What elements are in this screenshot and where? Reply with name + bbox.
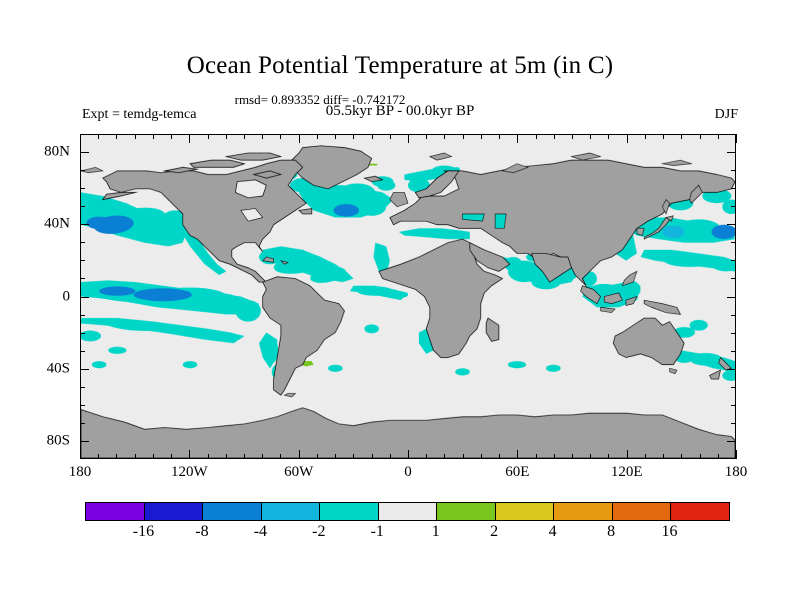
x-axis-label: 120W xyxy=(171,464,208,481)
x-tick-top xyxy=(444,134,445,139)
colorbar-swatch xyxy=(379,503,438,520)
x-tick xyxy=(98,454,99,459)
y-axis-label: 0 xyxy=(63,288,71,305)
x-tick-top xyxy=(499,134,500,139)
x-tick-top xyxy=(718,134,719,139)
x-tick xyxy=(627,450,628,459)
y-tick-right xyxy=(731,278,736,279)
x-tick-top xyxy=(80,134,81,143)
y-tick xyxy=(80,315,85,316)
y-tick xyxy=(80,242,85,243)
y-tick-right xyxy=(731,170,736,171)
colorbar-swatch xyxy=(671,503,729,520)
y-tick-right xyxy=(727,152,736,153)
colorbar-tick-label: 1 xyxy=(432,523,440,541)
colorbar-tick-label: 16 xyxy=(662,523,678,541)
x-axis-label: 180 xyxy=(725,464,748,481)
x-tick xyxy=(608,454,609,459)
y-tick xyxy=(80,188,85,189)
y-tick-right xyxy=(731,387,736,388)
x-tick xyxy=(116,454,117,459)
y-axis-label: 80S xyxy=(47,432,70,449)
y-tick xyxy=(80,224,89,225)
x-tick-top xyxy=(645,134,646,139)
x-tick-top xyxy=(116,134,117,139)
x-tick xyxy=(317,454,318,459)
x-tick xyxy=(280,454,281,459)
x-tick xyxy=(390,454,391,459)
y-tick xyxy=(80,333,85,334)
x-tick xyxy=(517,450,518,459)
x-tick-top xyxy=(736,134,737,143)
x-tick-top xyxy=(208,134,209,139)
y-tick-right xyxy=(731,242,736,243)
x-tick-top xyxy=(627,134,628,143)
x-tick-top xyxy=(153,134,154,139)
y-tick-right xyxy=(727,441,736,442)
x-tick-top xyxy=(244,134,245,139)
colorbar-tick-label: -4 xyxy=(254,523,267,541)
colorbar-tick-label: 4 xyxy=(549,523,557,541)
x-tick xyxy=(226,454,227,459)
y-axis-label: 40S xyxy=(47,360,70,377)
x-tick-top xyxy=(262,134,263,139)
colorbar xyxy=(85,502,730,521)
x-tick xyxy=(244,454,245,459)
experiment-label: Expt = temdg-temca xyxy=(82,107,196,123)
x-tick-top xyxy=(189,134,190,143)
x-tick-top xyxy=(463,134,464,139)
x-tick xyxy=(262,454,263,459)
x-tick-top xyxy=(171,134,172,139)
page-title: Ocean Potential Temperature at 5m (in C) xyxy=(0,52,800,80)
x-tick xyxy=(189,450,190,459)
x-tick xyxy=(700,454,701,459)
x-tick-top xyxy=(98,134,99,139)
x-tick-top xyxy=(353,134,354,139)
y-tick-right xyxy=(731,405,736,406)
y-tick-right xyxy=(731,423,736,424)
x-axis-label: 180 xyxy=(69,464,92,481)
x-tick xyxy=(353,454,354,459)
x-tick-top xyxy=(481,134,482,139)
x-tick-top xyxy=(408,134,409,143)
colorbar-tick-label: -8 xyxy=(195,523,208,541)
x-tick xyxy=(481,454,482,459)
x-tick xyxy=(590,454,591,459)
y-tick-right xyxy=(731,333,736,334)
y-tick xyxy=(80,297,89,298)
colorbar-tick-label: 2 xyxy=(490,523,498,541)
x-tick-top xyxy=(299,134,300,143)
y-tick-right xyxy=(727,369,736,370)
colorbar-swatch xyxy=(86,503,145,520)
colorbar-tick-label: -2 xyxy=(312,523,325,541)
x-tick-top xyxy=(226,134,227,139)
y-tick-right xyxy=(727,224,736,225)
x-tick-top xyxy=(372,134,373,139)
map-raster xyxy=(81,135,735,458)
colorbar-swatch xyxy=(496,503,555,520)
x-tick xyxy=(572,454,573,459)
x-tick-top xyxy=(572,134,573,139)
x-tick-top xyxy=(426,134,427,139)
y-tick-right xyxy=(731,206,736,207)
x-tick xyxy=(408,450,409,459)
colorbar-swatch xyxy=(203,503,262,520)
x-tick xyxy=(444,454,445,459)
x-tick xyxy=(718,454,719,459)
colorbar-tick-label: -16 xyxy=(133,523,154,541)
x-tick-top xyxy=(135,134,136,139)
x-tick-top xyxy=(335,134,336,139)
x-tick xyxy=(663,454,664,459)
x-axis-label: 120E xyxy=(611,464,643,481)
x-tick-top xyxy=(663,134,664,139)
x-tick-top xyxy=(517,134,518,143)
x-tick xyxy=(463,454,464,459)
x-tick-top xyxy=(700,134,701,139)
colorbar-swatch xyxy=(554,503,613,520)
colorbar-swatch xyxy=(145,503,204,520)
y-tick xyxy=(80,441,89,442)
y-tick xyxy=(80,260,85,261)
x-axis-label: 60W xyxy=(284,464,313,481)
colorbar-swatch xyxy=(613,503,672,520)
x-tick xyxy=(80,450,81,459)
climate-map-figure: Ocean Potential Temperature at 5m (in C)… xyxy=(0,0,800,600)
y-axis-label: 40N xyxy=(44,216,70,233)
x-tick-top xyxy=(280,134,281,139)
x-tick xyxy=(335,454,336,459)
x-tick xyxy=(153,454,154,459)
x-tick-top xyxy=(390,134,391,139)
y-tick-right xyxy=(731,188,736,189)
y-tick-right xyxy=(731,315,736,316)
y-tick xyxy=(80,369,89,370)
x-tick xyxy=(208,454,209,459)
x-tick-top xyxy=(681,134,682,139)
x-tick-top xyxy=(536,134,537,139)
y-tick-right xyxy=(731,351,736,352)
y-tick xyxy=(80,152,89,153)
x-tick xyxy=(299,450,300,459)
x-tick xyxy=(426,454,427,459)
y-tick-right xyxy=(727,297,736,298)
colorbar-swatch xyxy=(437,503,496,520)
x-tick-top xyxy=(590,134,591,139)
y-tick xyxy=(80,278,85,279)
x-tick xyxy=(536,454,537,459)
y-axis-label: 80N xyxy=(44,144,70,161)
x-axis-label: 60E xyxy=(505,464,529,481)
x-tick xyxy=(135,454,136,459)
y-tick xyxy=(80,206,85,207)
x-tick-top xyxy=(608,134,609,139)
x-tick xyxy=(499,454,500,459)
season-label: DJF xyxy=(715,107,738,123)
x-tick-top xyxy=(317,134,318,139)
y-tick xyxy=(80,405,85,406)
x-tick-top xyxy=(554,134,555,139)
y-tick xyxy=(80,387,85,388)
y-tick xyxy=(80,351,85,352)
y-tick-right xyxy=(731,260,736,261)
colorbar-swatch xyxy=(262,503,321,520)
y-tick xyxy=(80,170,85,171)
x-tick xyxy=(554,454,555,459)
x-tick xyxy=(736,450,737,459)
map-plot-area xyxy=(80,134,736,459)
colorbar-tick-label: 8 xyxy=(607,523,615,541)
x-tick xyxy=(372,454,373,459)
x-tick xyxy=(171,454,172,459)
y-tick xyxy=(80,423,85,424)
colorbar-tick-label: -1 xyxy=(371,523,384,541)
x-axis-label: 0 xyxy=(404,464,412,481)
x-tick xyxy=(681,454,682,459)
colorbar-swatch xyxy=(320,503,379,520)
x-tick xyxy=(645,454,646,459)
